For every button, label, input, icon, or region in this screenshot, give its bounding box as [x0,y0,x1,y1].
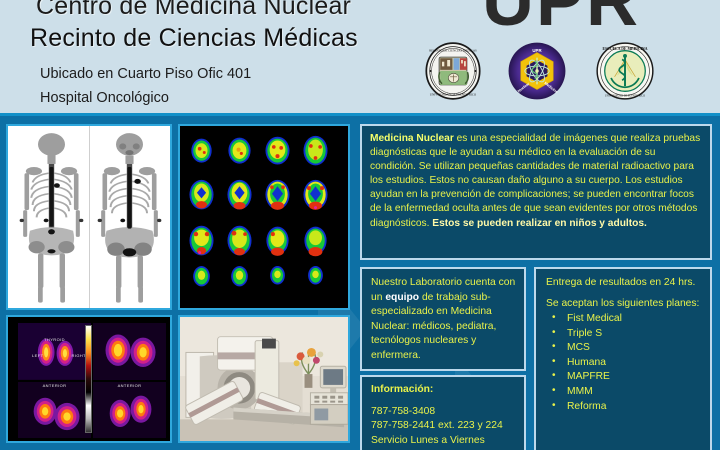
svg-text:UPR: UPR [532,48,542,53]
poster-root: Centro de Medicina Nuclear Recinto de Ci… [0,0,720,450]
list-item: MCS [550,341,704,356]
svg-text:RECINTO DE CIENCIAS MEDICAS: RECINTO DE CIENCIAS MEDICAS [429,48,477,52]
main-text-body: es una especialidad de imágenes que real… [370,133,700,229]
list-item: Fist Medical [550,312,704,327]
list-item: Reforma [550,400,704,415]
main-description-panel: Medicina Nuclear es una especialidad de … [360,124,712,260]
main-text-lead: Medicina Nuclear [370,133,454,144]
list-item: MAPFRE [550,370,704,385]
thyroid-label-anterior-1: ANTERIOR [43,383,67,388]
svg-text:ESCUELA DE MEDICINA: ESCUELA DE MEDICINA [602,47,647,51]
thyroid-label-anterior-2: ANTERIOR [118,383,142,388]
accepted-plans-label: Se aceptan los siguientes planes: [546,297,704,312]
thyroid-panel-3: ANTERIOR [18,382,91,439]
thyroid-marker-left: LEFT [32,353,43,358]
upr-nuclear-medicine-logo: UPR Nuclear Medicine [508,42,566,100]
phone-number-1[interactable]: 787-758-3408 [371,405,517,420]
thyroid-colorbar-center [85,325,92,433]
poster-header: Centro de Medicina Nuclear Recinto de Ci… [0,0,720,113]
spect-ct-gamma-camera-room-image [178,315,350,443]
list-item: Humana [550,356,704,371]
thyroid-scintigraphy-image: THYROID SCAN PROTOCOL [6,315,172,443]
brain-pet-transverse-slices-image: TRANSVERSE [178,124,350,310]
insurance-plans-list: Fist Medical Triple S MCS Humana MAPFRE … [550,312,704,414]
thyroid-marker-right: RIGHT [72,353,86,358]
main-text-closing: Estos se pueden realizar en niños y adul… [432,218,647,229]
svg-text:UNIVERSIDAD DE PUERTO RICO: UNIVERSIDAD DE PUERTO RICO [430,92,477,96]
list-item: Triple S [550,327,704,342]
page-title-line2: Recinto de Ciencias Médicas [30,24,358,53]
results-delivery-text: Entrega de resultados en 24 hrs. [546,276,704,291]
insurance-plans-panel: Entrega de resultados en 24 hrs. Se acep… [534,267,712,450]
header-subtitle-location: Ubicado en Cuarto Piso Ofic 401 [40,66,251,82]
whole-body-bone-scan-image [6,124,172,310]
phone-number-2[interactable]: 787-758-2441 ext. 223 y 224 [371,419,517,434]
svg-text:UNIVERSIDAD DE PUERTO RICO: UNIVERSIDAD DE PUERTO RICO [605,95,645,98]
escuela-de-medicina-seal-logo: ESCUELA DE MEDICINA UNIVERSIDAD DE PUERT… [596,42,654,100]
page-title-line1: Centro de Medicina Nuclear [36,0,351,21]
thyroid-label-top: THYROID [44,337,65,342]
team-panel: Nuestro Laboratorio cuenta con un equipo… [360,267,526,371]
upr-rcm-seal-logo: RECINTO DE CIENCIAS MEDICAS UNIVERSIDAD … [424,42,482,100]
upr-brand-wordmark: UPR [482,0,640,42]
thyroid-panel-2 [93,323,166,380]
header-subtitle-hospital: Hospital Oncológico [40,90,169,106]
thyroid-panel-1: THYROID LEFT RIGHT [18,323,91,380]
list-item: MMM [550,385,704,400]
team-bold-word: equipo [385,292,419,303]
info-panel-title: Información: [371,383,517,398]
thyroid-panel-4: ANTERIOR [93,382,166,439]
contact-info-panel: Información: 787-758-3408 787-758-2441 e… [360,375,526,450]
poster-body: TRANSVERSE THYROID SCAN PRO [0,119,720,450]
service-hours: Servicio Lunes a Viernes [371,434,517,449]
